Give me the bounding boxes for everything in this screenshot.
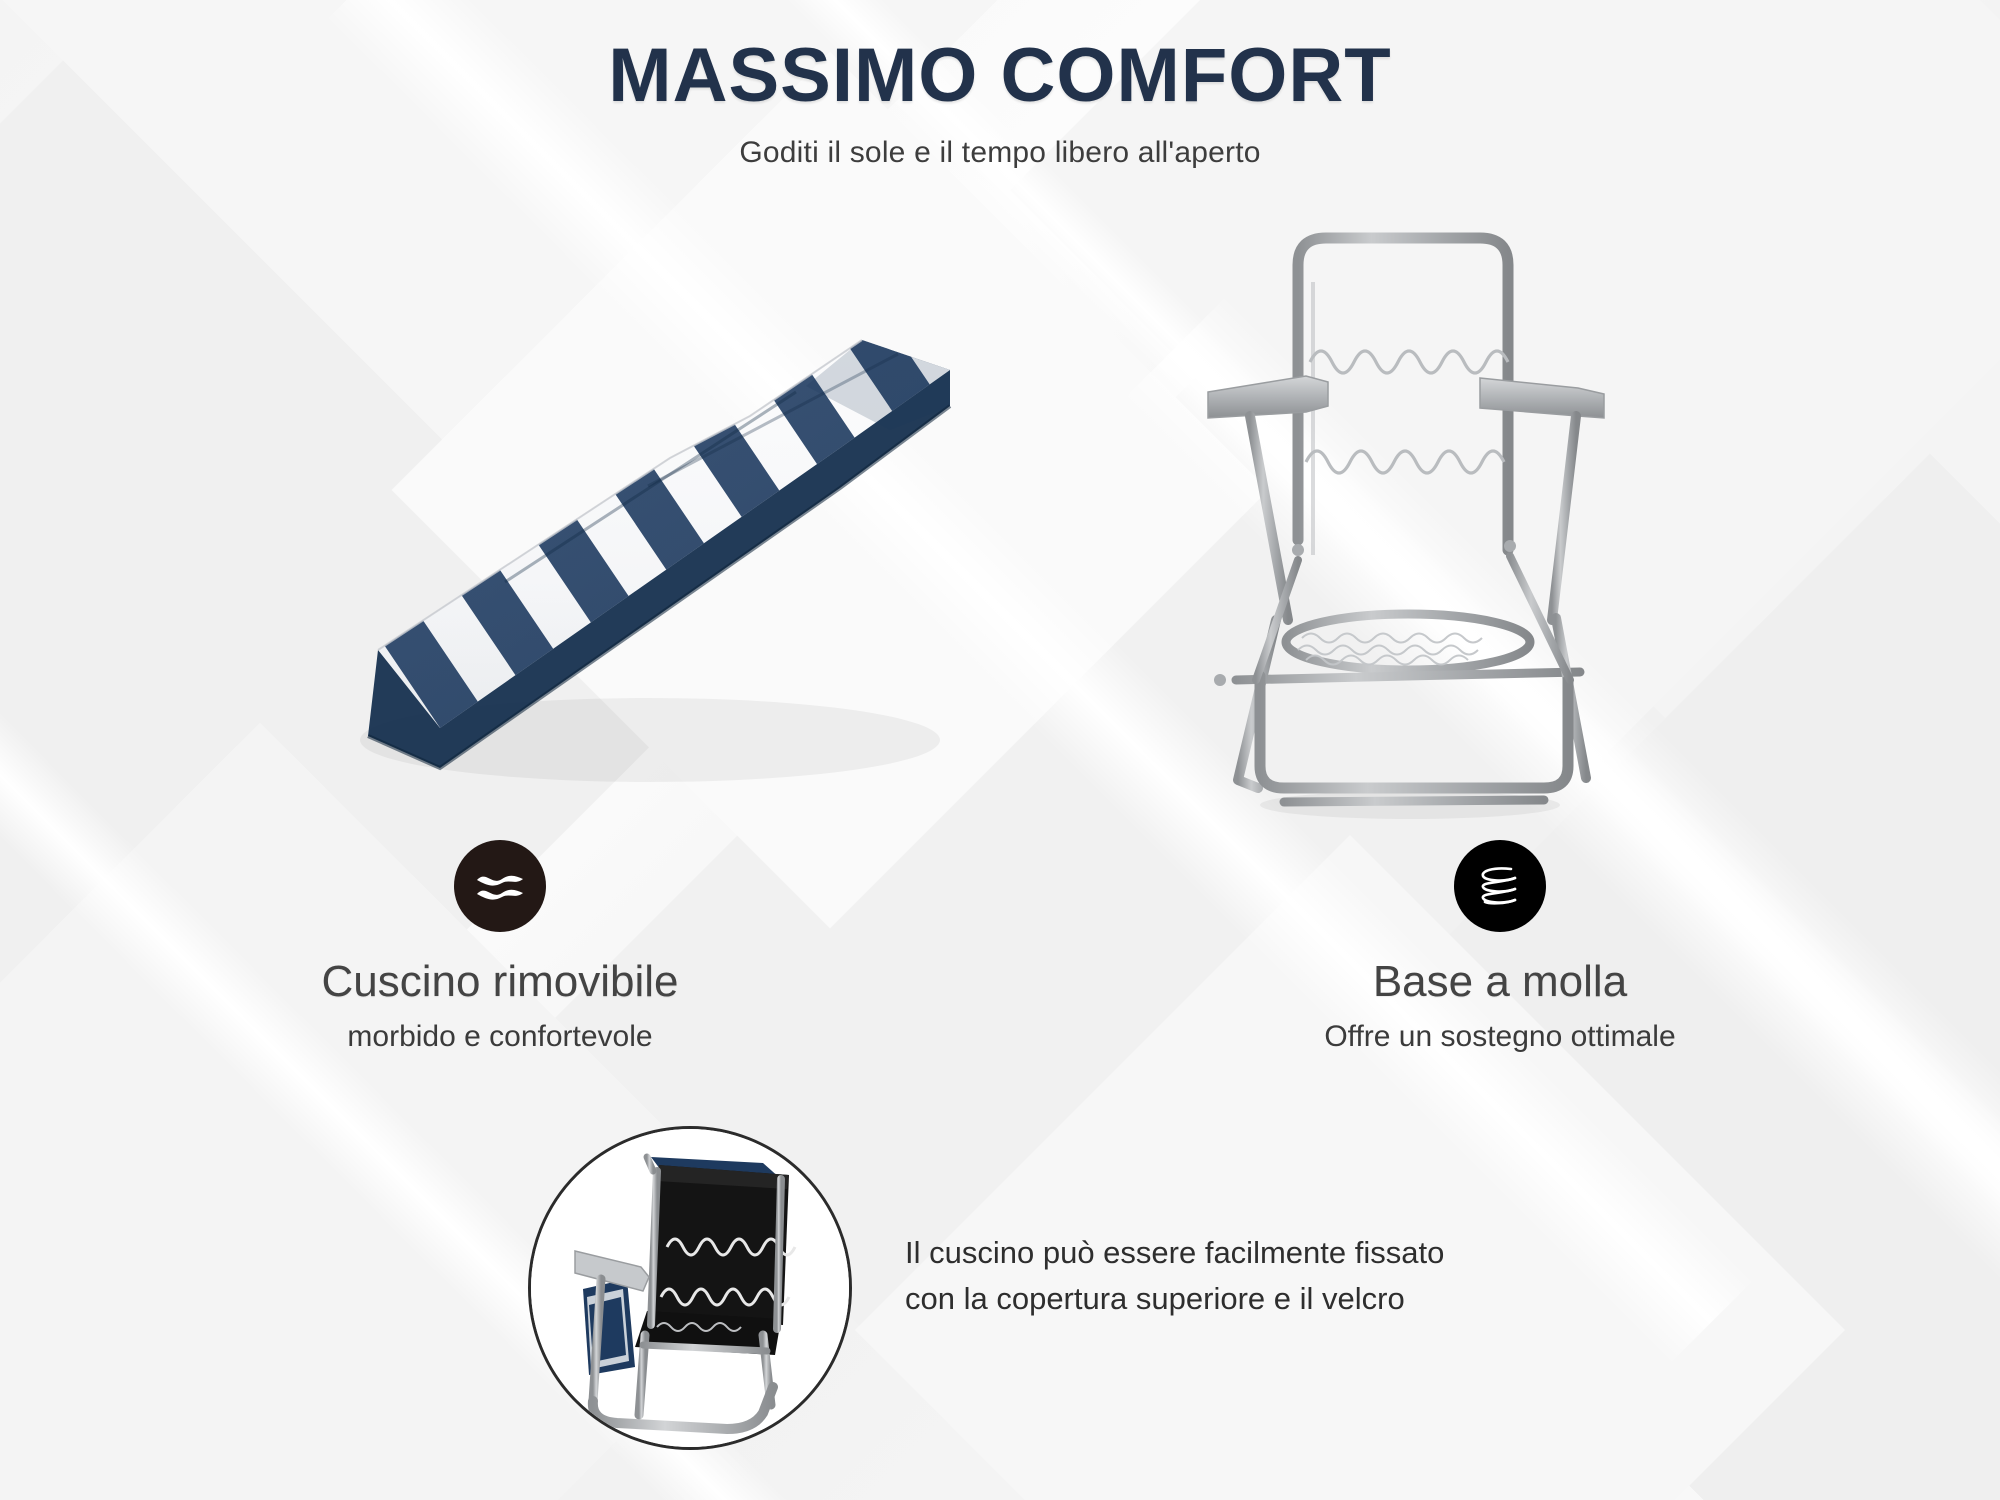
product-showcase bbox=[0, 230, 2000, 840]
bottom-callout: Il cuscino può essere facilmente fissato… bbox=[0, 1120, 2000, 1460]
chair-product-image bbox=[1180, 210, 1640, 830]
spring-coil-icon-glyph bbox=[1471, 857, 1529, 915]
feature-title: Cuscino rimovibile bbox=[0, 958, 1000, 1006]
feature-subtitle: morbido e confortevole bbox=[0, 1020, 1000, 1054]
cushion-product-image bbox=[250, 220, 1030, 820]
feature-item-spring-base: Base a molla Offre un sostegno ottimale bbox=[1000, 840, 2000, 1054]
chair-back-detail-photo bbox=[528, 1126, 852, 1450]
page-subtitle: Goditi il sole e il tempo libero all'ape… bbox=[0, 136, 2000, 170]
spring-coil-icon bbox=[1454, 840, 1546, 932]
promo-image-canvas: MASSIMO COMFORT Goditi il sole e il temp… bbox=[0, 0, 2000, 1500]
feature-list: Cuscino rimovibile morbido e confortevol… bbox=[0, 840, 2000, 1054]
feature-item-cushion: Cuscino rimovibile morbido e confortevol… bbox=[0, 840, 1000, 1054]
waves-icon bbox=[454, 840, 546, 932]
callout-line-2: con la copertura superiore e il velcro bbox=[905, 1276, 1625, 1322]
feature-title: Base a molla bbox=[1000, 958, 2000, 1006]
callout-description: Il cuscino può essere facilmente fissato… bbox=[905, 1230, 1625, 1322]
feature-subtitle: Offre un sostegno ottimale bbox=[1000, 1020, 2000, 1054]
callout-line-1: Il cuscino può essere facilmente fissato bbox=[905, 1230, 1625, 1276]
waves-icon-glyph bbox=[472, 864, 528, 908]
page-title: MASSIMO COMFORT bbox=[0, 38, 2000, 114]
header: MASSIMO COMFORT Goditi il sole e il temp… bbox=[0, 38, 2000, 170]
